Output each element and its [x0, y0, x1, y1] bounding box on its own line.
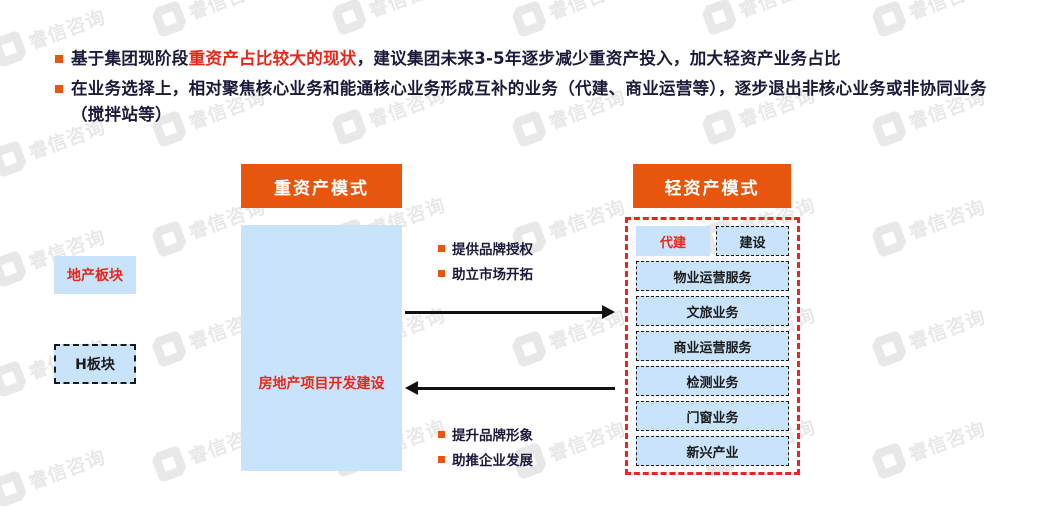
watermark-text: 睿信咨询 — [544, 414, 628, 467]
arrow-left-shaft — [416, 387, 615, 390]
rui-xin-logo-icon — [870, 220, 908, 258]
watermark-text: 睿信咨询 — [904, 414, 988, 467]
light-asset-item[interactable]: 新兴产业 — [636, 436, 789, 466]
watermark-text: 睿信咨询 — [24, 442, 108, 495]
header-bullet-item: 在业务选择上，相对聚焦核心业务和能通核心业务形成互补的业务（代建、商业运营等），… — [55, 76, 1015, 128]
watermark: 睿信咨询 — [150, 0, 269, 38]
header-bullet-item: 基于集团现阶段重资产占比较大的现状，建议集团未来3-5年逐步减少重资产投入，加大… — [55, 46, 1015, 72]
light-asset-item[interactable]: 门窗业务 — [636, 401, 789, 431]
heavy-asset-box[interactable]: 房地产项目开发建设 — [241, 225, 402, 471]
light-asset-header-label: 轻资产模式 — [665, 174, 760, 199]
light-asset-item[interactable]: 物业运营服务 — [636, 261, 789, 291]
annotation-label: 提供品牌授权 — [452, 238, 533, 258]
header-bullet-text: 基于集团现阶段重资产占比较大的现状，建议集团未来3-5年逐步减少重资产投入，加大… — [71, 46, 841, 72]
light-asset-item[interactable]: 代建 — [636, 226, 710, 256]
arrow-right-icon — [405, 305, 615, 319]
header-bullet-list: 基于集团现阶段重资产占比较大的现状，建议集团未来3-5年逐步减少重资产投入，加大… — [55, 46, 1015, 132]
watermark: 睿信咨询 — [870, 412, 989, 480]
rui-xin-logo-icon — [0, 30, 28, 68]
bullet-square-icon — [438, 456, 445, 463]
annotation-top: 提供品牌授权助立市场开拓 — [438, 238, 533, 288]
rui-xin-logo-icon — [870, 442, 908, 480]
rui-xin-logo-icon — [700, 0, 738, 36]
bullet-square-icon — [55, 55, 63, 63]
light-asset-item-label: 商业运营服务 — [673, 337, 751, 356]
bullet-square-icon — [438, 431, 445, 438]
watermark-text: 睿信咨询 — [544, 0, 628, 24]
rui-xin-logo-icon — [510, 0, 548, 38]
annotation-item: 提升品牌形象 — [438, 424, 533, 444]
real-estate-block-label: 地产板块 — [67, 265, 123, 285]
light-asset-item[interactable]: 商业运营服务 — [636, 331, 789, 361]
watermark-text: 睿信咨询 — [734, 0, 818, 22]
arrow-right-shaft — [405, 311, 604, 314]
bullet-segment: 基于集团现阶段 — [71, 49, 189, 68]
real-estate-block[interactable]: 地产板块 — [54, 256, 136, 294]
rui-xin-logo-icon — [510, 330, 548, 368]
heavy-asset-box-label: 房地产项目开发建设 — [256, 373, 388, 396]
annotation-label: 提升品牌形象 — [452, 424, 533, 444]
header-bullet-text: 在业务选择上，相对聚焦核心业务和能通核心业务形成互补的业务（代建、商业运营等），… — [71, 76, 1015, 128]
rui-xin-logo-icon — [150, 445, 188, 483]
annotation-label: 助立市场开拓 — [452, 263, 533, 283]
highlighted-phrase: 重资产占比较大的现状 — [189, 49, 357, 68]
rui-xin-logo-icon — [870, 0, 908, 38]
watermark-text: 睿信咨询 — [904, 302, 988, 355]
annotation-item: 助推企业发展 — [438, 449, 533, 469]
annotation-label: 助推企业发展 — [452, 449, 533, 469]
bullet-segment: ，建议集团未来3-5年逐步减少重资产投入，加大轻资产业务占比 — [357, 49, 841, 68]
watermark: 睿信咨询 — [870, 0, 989, 38]
annotation-bottom: 提升品牌形象助推企业发展 — [438, 424, 533, 474]
rui-xin-logo-icon — [0, 140, 28, 178]
watermark: 睿信咨询 — [700, 0, 819, 36]
rui-xin-logo-icon — [0, 360, 28, 398]
watermark: 睿信咨询 — [870, 300, 989, 368]
watermark-text: 睿信咨询 — [544, 192, 628, 245]
h-block[interactable]: H板块 — [54, 344, 136, 384]
watermark: 睿信咨询 — [0, 440, 109, 508]
light-asset-header: 轻资产模式 — [633, 164, 791, 208]
light-asset-item[interactable]: 建设 — [716, 226, 789, 256]
bullet-square-icon — [438, 245, 445, 252]
rui-xin-logo-icon — [870, 330, 908, 368]
watermark-text: 睿信咨询 — [364, 0, 448, 22]
light-asset-group: 代建建设物业运营服务文旅业务商业运营服务检测业务门窗业务新兴产业 — [625, 217, 800, 475]
watermark: 睿信咨询 — [510, 0, 629, 38]
light-asset-item-label: 建设 — [739, 232, 765, 251]
rui-xin-logo-icon — [150, 220, 188, 258]
light-asset-item[interactable]: 检测业务 — [636, 366, 789, 396]
watermark: 睿信咨询 — [870, 190, 989, 258]
light-asset-item-label: 文旅业务 — [686, 302, 738, 321]
watermark-text: 睿信咨询 — [904, 192, 988, 245]
watermark-text: 睿信咨询 — [904, 0, 988, 24]
light-asset-item-label: 门窗业务 — [686, 407, 738, 426]
light-asset-item-label: 检测业务 — [686, 372, 738, 391]
light-asset-item-label: 代建 — [660, 232, 686, 251]
light-asset-item-label: 物业运营服务 — [673, 267, 751, 286]
heavy-asset-header-label: 重资产模式 — [274, 174, 369, 199]
bullet-square-icon — [55, 85, 63, 93]
slide-canvas: 睿信咨询睿信咨询睿信咨询睿信咨询睿信咨询睿信咨询睿信咨询睿信咨询睿信咨询睿信咨询… — [0, 0, 1040, 525]
arrow-left-head — [405, 381, 418, 395]
rui-xin-logo-icon — [0, 250, 28, 288]
bullet-square-icon — [438, 270, 445, 277]
watermark: 睿信咨询 — [330, 0, 449, 36]
rui-xin-logo-icon — [330, 0, 368, 36]
light-asset-item-label: 新兴产业 — [686, 442, 738, 461]
heavy-asset-header: 重资产模式 — [241, 164, 402, 208]
light-asset-top-row: 代建建设 — [636, 226, 789, 256]
annotation-item: 助立市场开拓 — [438, 263, 533, 283]
rui-xin-logo-icon — [150, 0, 188, 38]
rui-xin-logo-icon — [150, 330, 188, 368]
h-block-label: H板块 — [75, 354, 115, 374]
annotation-item: 提供品牌授权 — [438, 238, 533, 258]
arrow-left-icon — [405, 381, 615, 395]
bullet-segment: 在业务选择上，相对聚焦核心业务和能通核心业务形成互补的业务（代建、商业运营等），… — [71, 79, 987, 124]
rui-xin-logo-icon — [0, 470, 28, 508]
light-asset-list: 代建建设物业运营服务文旅业务商业运营服务检测业务门窗业务新兴产业 — [636, 226, 789, 471]
arrow-right-head — [602, 305, 615, 319]
watermark-text: 睿信咨询 — [184, 0, 268, 24]
light-asset-item[interactable]: 文旅业务 — [636, 296, 789, 326]
